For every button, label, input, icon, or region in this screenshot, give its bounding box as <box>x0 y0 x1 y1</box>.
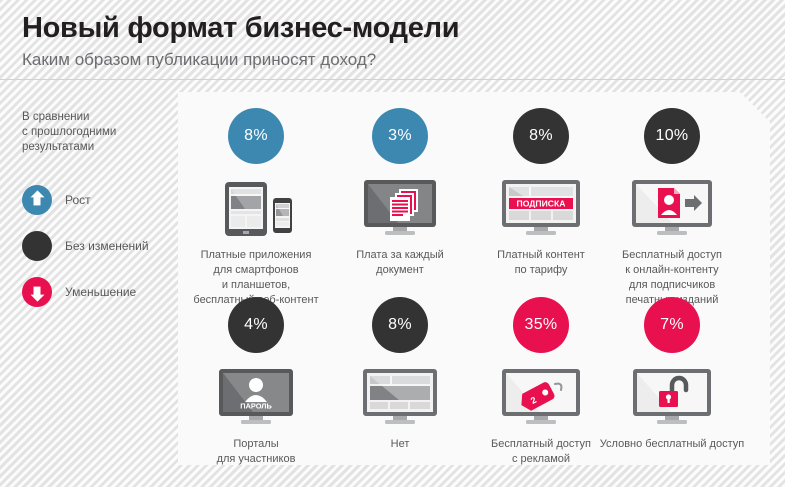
percent-badge: 3% <box>372 108 428 164</box>
item-card: 3% <box>326 108 474 278</box>
percent-badge: 8% <box>513 108 569 164</box>
item-caption: Плата за каждый документ <box>326 248 474 278</box>
percent-badge: 4% <box>228 297 284 353</box>
item-card: 7% Условно бесплатный доступ <box>598 297 746 452</box>
item-card: 8% Нет <box>326 297 474 452</box>
item-caption: Условно бесплатный доступ <box>598 437 746 452</box>
item-card: 4% ПАРОЛЬ Порталы для участников <box>182 297 330 467</box>
item-caption: Порталы для участников <box>182 437 330 467</box>
item-card: 8% <box>182 108 330 308</box>
monitor-password-icon: ПАРОЛЬ <box>182 365 330 429</box>
percent-badge: 35% <box>513 297 569 353</box>
item-caption: Бесплатный доступ с рекламой <box>467 437 615 467</box>
percent-badge: 7% <box>644 297 700 353</box>
legend-item-growth: Рост <box>22 179 172 221</box>
item-card: 10% Бесплатный доступ к онлайн-контенту … <box>598 108 746 308</box>
page-subtitle: Каким образом публикации приносят доход? <box>22 47 785 73</box>
monitor-profile-arrow-icon <box>598 176 746 240</box>
monitor-documents-icon <box>326 176 474 240</box>
monitor-subscription-icon: ПОДПИСКА <box>467 176 615 240</box>
item-caption: Платный контент по тарифу <box>467 248 615 278</box>
infographic-page: Новый формат бизнес-модели Каким образом… <box>0 0 785 487</box>
item-card: 8% ПОДПИСКА Платный контент по <box>467 108 615 278</box>
monitor-layout-icon <box>326 365 474 429</box>
legend-item-nochange: Без изменений <box>22 225 172 267</box>
legend: В сравнении с прошлогодними результатами… <box>22 110 172 317</box>
items-grid: 8% <box>178 92 770 465</box>
monitor-pricetag-icon: 2 <box>467 365 615 429</box>
legend-item-label: Рост <box>65 193 91 207</box>
arrow-up-icon <box>22 185 52 215</box>
item-caption: Нет <box>326 437 474 452</box>
legend-item-decline: Уменьшение <box>22 271 172 313</box>
tablet-phone-icon <box>182 176 330 240</box>
percent-badge: 8% <box>228 108 284 164</box>
percent-badge: 10% <box>644 108 700 164</box>
legend-item-label: Без изменений <box>65 239 149 253</box>
item-card: 35% 2 Бесплатный доступ с рекламой <box>467 297 615 467</box>
percent-badge: 8% <box>372 297 428 353</box>
header: Новый формат бизнес-модели Каким образом… <box>0 0 785 80</box>
circle-flat-icon <box>22 231 52 261</box>
monitor-unlock-icon <box>598 365 746 429</box>
legend-title: В сравнении с прошлогодними результатами <box>22 110 172 155</box>
arrow-down-icon <box>22 277 52 307</box>
password-banner-text: ПАРОЛЬ <box>240 402 272 411</box>
page-title: Новый формат бизнес-модели <box>22 9 785 47</box>
subscription-banner-text: ПОДПИСКА <box>517 198 566 208</box>
legend-item-label: Уменьшение <box>65 285 136 299</box>
